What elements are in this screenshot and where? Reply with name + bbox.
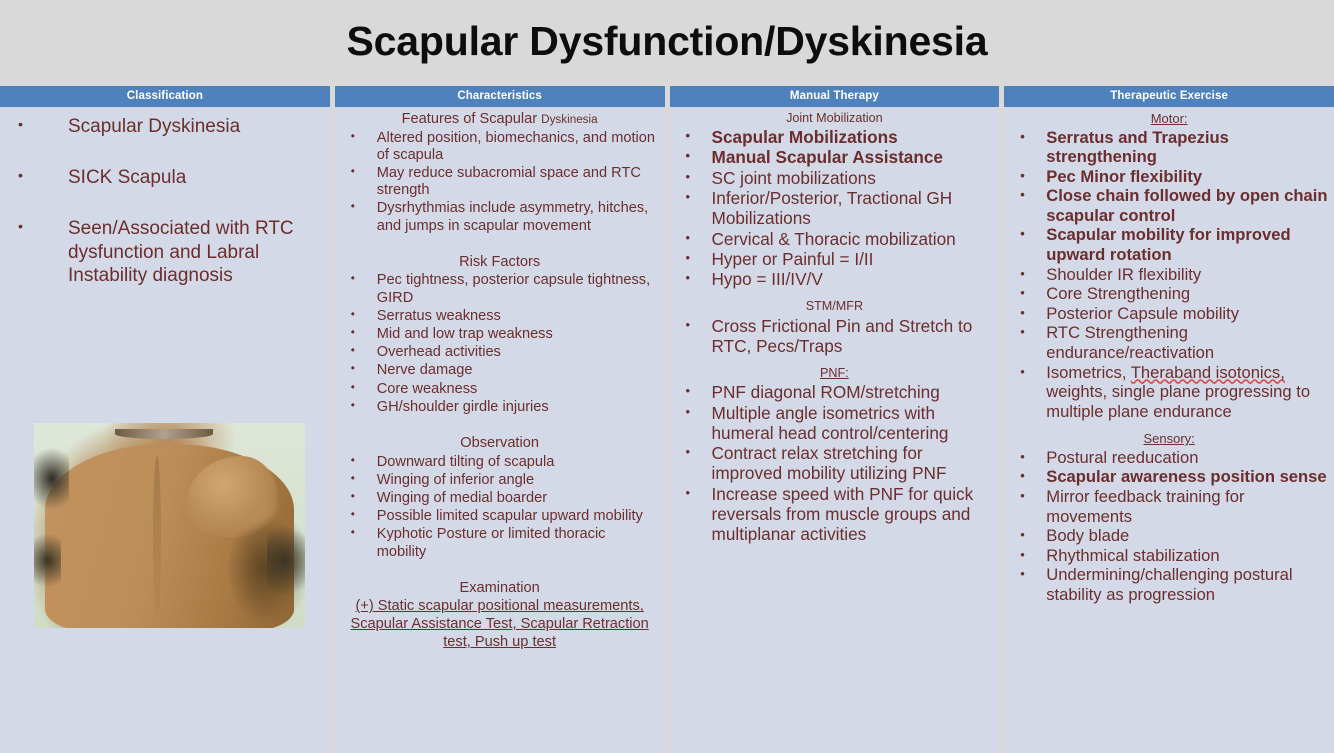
- column-header-characteristics: Characteristics: [335, 86, 665, 107]
- pnf-bullet-list: PNF diagonal ROM/stretching Multiple ang…: [676, 382, 994, 544]
- list-item: Close chain followed by open chain scapu…: [1010, 186, 1328, 225]
- list-item: SC joint mobilizations: [676, 168, 994, 188]
- column-characteristics: Characteristics Features of Scapular Dys…: [335, 86, 665, 753]
- list-item: Manual Scapular Assistance: [676, 147, 994, 167]
- list-item: Winging of inferior angle: [341, 472, 659, 489]
- spellcheck-underlined-text: Theraband isotonics,: [1131, 363, 1285, 382]
- list-item: Multiple angle isometrics with humeral h…: [676, 403, 994, 444]
- list-item: Scapular Mobilizations: [676, 127, 994, 147]
- spacer: [676, 356, 994, 366]
- list-item: Hyper or Painful = I/II: [676, 249, 994, 269]
- list-item: Mid and low trap weakness: [341, 326, 659, 343]
- spacer: [1010, 421, 1328, 431]
- column-header-classification: Classification: [0, 86, 330, 107]
- list-item: Overhead activities: [341, 344, 659, 361]
- photo-shadow-left-upper: [34, 448, 69, 510]
- list-item: May reduce subacromial space and RTC str…: [341, 165, 659, 199]
- list-item: RTC Strengthening endurance/reactivation: [1010, 323, 1328, 362]
- photo-shadow-right: [267, 526, 305, 596]
- column-body-characteristics: Features of Scapular Dyskinesia Altered …: [335, 107, 665, 753]
- section-heading-features: Features of Scapular Dyskinesia: [341, 111, 659, 129]
- column-manual-therapy: Manual Therapy Joint Mobilization Scapul…: [670, 86, 1000, 753]
- list-item: Dysrhythmias include asymmetry, hitches,…: [341, 200, 659, 234]
- list-item: Winging of medial boarder: [341, 490, 659, 507]
- sensory-bullet-list: Postural reeducation Scapular awareness …: [1010, 448, 1328, 605]
- list-item: Nerve damage: [341, 362, 659, 379]
- list-item: Contract relax stretching for improved m…: [676, 443, 994, 484]
- classification-bullet-list: Scapular Dyskinesia SICK Scapula Seen/As…: [6, 115, 324, 287]
- spacer: [676, 289, 994, 299]
- features-bullet-list: Altered position, biomechanics, and moti…: [341, 130, 659, 235]
- column-therapeutic-exercise: Therapeutic Exercise Motor: Serratus and…: [1004, 86, 1334, 753]
- column-body-manual-therapy: Joint Mobilization Scapular Mobilization…: [670, 107, 1000, 753]
- stm-mfr-bullet-list: Cross Frictional Pin and Stretch to RTC,…: [676, 316, 994, 357]
- list-item: Core Strengthening: [1010, 284, 1328, 304]
- list-item: Downward tilting of scapula: [341, 454, 659, 471]
- list-item: Possible limited scapular upward mobilit…: [341, 508, 659, 525]
- list-item: Shoulder IR flexibility: [1010, 265, 1328, 285]
- motor-bullet-list: Serratus and Trapezius strengthening Pec…: [1010, 128, 1328, 422]
- column-body-therapeutic-exercise: Motor: Serratus and Trapezius strengthen…: [1004, 107, 1334, 753]
- list-item: Posterior Capsule mobility: [1010, 304, 1328, 324]
- joint-mobilization-bullet-list: Scapular Mobilizations Manual Scapular A…: [676, 127, 994, 289]
- list-item: Hypo = III/IV/V: [676, 269, 994, 289]
- spacer: [341, 562, 659, 580]
- examination-line: test, Push up test: [443, 634, 556, 650]
- list-item: Pec tightness, posterior capsule tightne…: [341, 272, 659, 306]
- list-item: Scapular mobility for improved upward ro…: [1010, 225, 1328, 264]
- section-heading-sensory: Sensory:: [1010, 431, 1328, 447]
- column-body-classification: Scapular Dyskinesia SICK Scapula Seen/As…: [0, 107, 330, 753]
- list-item: Postural reeducation: [1010, 448, 1328, 468]
- list-item: GH/shoulder girdle injuries: [341, 399, 659, 416]
- list-item: Increase speed with PNF for quick revers…: [676, 484, 994, 545]
- list-item: SICK Scapula: [6, 166, 324, 189]
- section-heading-stm-mfr: STM/MFR: [676, 299, 994, 314]
- section-heading-features-sub: Dyskinesia: [541, 113, 597, 126]
- list-item: Body blade: [1010, 526, 1328, 546]
- section-heading-features-main: Features of Scapular: [402, 111, 542, 127]
- section-heading-pnf: PNF:: [676, 366, 994, 381]
- scapular-winging-photo: [34, 423, 305, 628]
- list-item: Seen/Associated with RTC dysfunction and…: [6, 217, 324, 287]
- list-item: Scapular awareness position sense: [1010, 467, 1328, 487]
- list-item: Core weakness: [341, 381, 659, 398]
- column-header-therapeutic-exercise: Therapeutic Exercise: [1004, 86, 1334, 107]
- list-item: Rhythmical stabilization: [1010, 546, 1328, 566]
- list-item: Pec Minor flexibility: [1010, 167, 1328, 187]
- section-heading-observation: Observation: [341, 435, 659, 453]
- spacer: [341, 417, 659, 435]
- page-title: Scapular Dysfunction/Dyskinesia: [0, 0, 1334, 83]
- column-header-manual-therapy: Manual Therapy: [670, 86, 1000, 107]
- section-heading-risk-factors: Risk Factors: [341, 254, 659, 272]
- risk-factors-bullet-list: Pec tightness, posterior capsule tightne…: [341, 272, 659, 416]
- photo-shadow-left-lower: [34, 534, 61, 587]
- examination-line: (+) Static scapular positional measureme…: [355, 598, 643, 614]
- list-item: Serratus and Trapezius strengthening: [1010, 128, 1328, 167]
- section-heading-motor: Motor:: [1010, 111, 1328, 127]
- list-item: Kyphotic Posture or limited thoracic mob…: [341, 526, 659, 560]
- section-heading-examination: Examination: [341, 580, 659, 598]
- list-item: Undermining/challenging postural stabili…: [1010, 565, 1328, 604]
- list-item: Isometrics, Theraband isotonics, weights…: [1010, 363, 1328, 422]
- examination-text: (+) Static scapular positional measureme…: [341, 598, 659, 652]
- column-classification: Classification Scapular Dyskinesia SICK …: [0, 86, 330, 753]
- list-item: Mirror feedback training for movements: [1010, 487, 1328, 526]
- examination-line: Scapular Assistance Test, Scapular Retra…: [351, 616, 649, 632]
- list-item: Inferior/Posterior, Tractional GH Mobili…: [676, 188, 994, 229]
- list-item: Serratus weakness: [341, 308, 659, 325]
- list-item: PNF diagonal ROM/stretching: [676, 382, 994, 402]
- list-item: Cross Frictional Pin and Stretch to RTC,…: [676, 316, 994, 357]
- comparison-table: Classification Scapular Dyskinesia SICK …: [0, 86, 1334, 753]
- observation-bullet-list: Downward tilting of scapula Winging of i…: [341, 454, 659, 561]
- photo-collar-shape: [115, 429, 213, 439]
- spacer: [341, 236, 659, 254]
- list-item: Scapular Dyskinesia: [6, 115, 324, 138]
- list-item: Cervical & Thoracic mobilization: [676, 229, 994, 249]
- list-item: Altered position, biomechanics, and moti…: [341, 130, 659, 164]
- section-heading-joint-mobilization: Joint Mobilization: [676, 111, 994, 126]
